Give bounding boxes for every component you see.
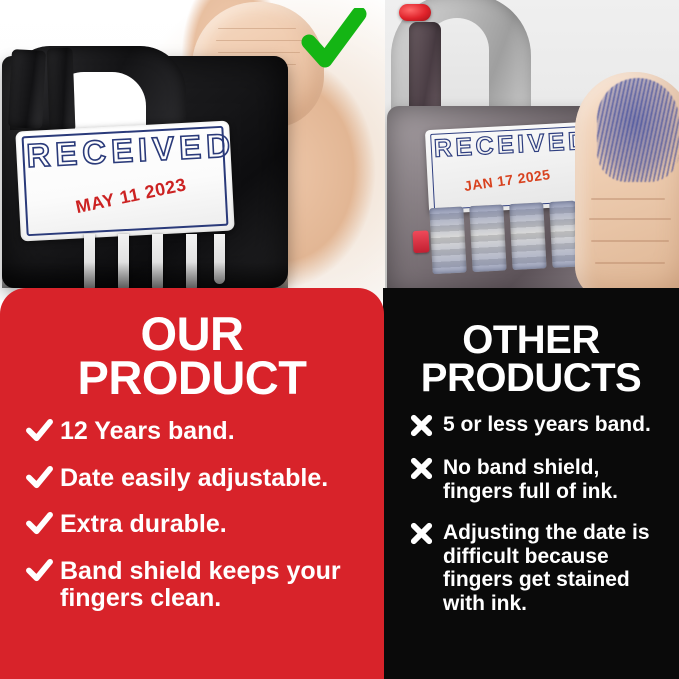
list-item: Extra durable. [26,511,368,539]
heading-line-1: OTHER [393,322,669,360]
other-products-feature-list: 5 or less years band. No band shield, fi… [393,413,669,615]
feature-text: Band shield keeps your fingers clean. [60,558,368,613]
stamp-body: RECEIVED MAY 11 2023 [2,56,288,288]
stamp-base-shadow [2,262,288,288]
exposed-date-bands [429,200,594,278]
cross-icon [409,456,443,481]
other-products-photo: RECEIVED JAN 17 2025 [385,0,679,300]
feature-text: Adjusting the date is difficult because … [443,521,669,615]
comparison-panels: OTHER PRODUCTS 5 or less years band. [0,288,679,679]
check-icon [26,558,60,583]
feature-text: Date easily adjustable. [60,465,368,493]
blue-ink-stain [597,78,679,182]
stamp-impression-plate: RECEIVED MAY 11 2023 [15,120,234,241]
product-comparison-graphic: RECEIVED MAY 11 2023 [0,0,679,679]
check-icon [26,418,60,443]
other-products-heading: OTHER PRODUCTS [393,322,669,397]
feature-text: 12 Years band. [60,418,368,446]
stamp-arm [8,49,46,129]
feature-text: No band shield, fingers full of ink. [443,456,669,503]
our-product-panel: OUR PRODUCT 12 Years band. [0,288,384,679]
photo-strip: RECEIVED MAY 11 2023 [0,0,679,300]
feature-text: 5 or less years band. [443,413,669,437]
cross-icon [409,413,443,438]
other-products-panel: OTHER PRODUCTS 5 or less years band. [383,294,679,679]
heading-line-2: PRODUCTS [393,360,669,398]
green-check-icon [299,8,367,72]
list-item: Adjusting the date is difficult because … [409,521,669,615]
list-item: Date easily adjustable. [26,465,368,493]
our-product-heading: OUR PRODUCT [16,312,368,400]
list-item: 12 Years band. [26,418,368,446]
cross-icon [409,521,443,546]
handle-red-button [399,4,431,21]
heading-line-1: OUR [16,312,368,356]
check-icon [26,511,60,536]
our-product-feature-list: 12 Years band. Date easily adjustable. [16,418,368,613]
feature-text: Extra durable. [60,511,368,539]
list-item: 5 or less years band. [409,413,669,438]
our-product-photo: RECEIVED MAY 11 2023 [0,0,385,300]
check-icon [26,465,60,490]
heading-line-2: PRODUCT [16,356,368,400]
list-item: No band shield, fingers full of ink. [409,456,669,503]
list-item: Band shield keeps your fingers clean. [26,558,368,613]
stamp-arm [47,48,76,133]
